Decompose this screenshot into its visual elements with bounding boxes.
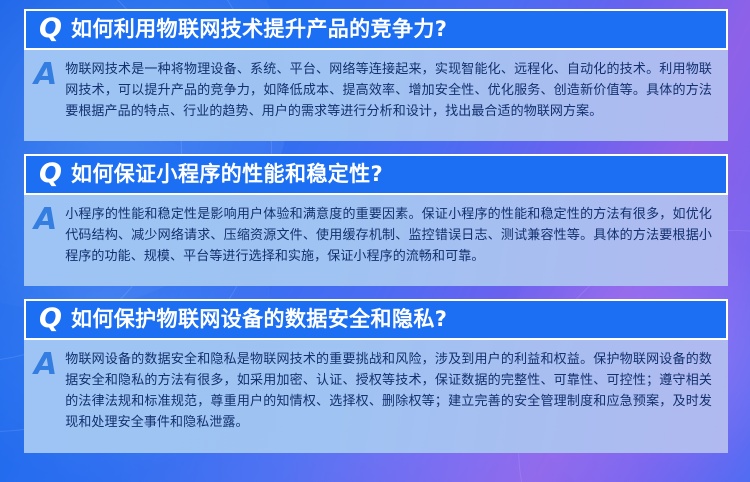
- question-mark-icon: Q: [39, 160, 62, 187]
- question-mark-icon: Q: [39, 305, 62, 332]
- faq-page: Q 如何利用物联网技术提升产品的竞争力? A 物联网技术是一种将物理设备、系统、…: [0, 0, 750, 482]
- answer-mark-icon: A: [34, 205, 57, 235]
- answer-text: 物联网设备的数据安全和隐私是物联网技术的重要挑战和风险，涉及到用户的利益和权益。…: [65, 349, 712, 433]
- question-bar[interactable]: Q 如何保证小程序的性能和稳定性?: [24, 154, 728, 195]
- answer-panel: A 小程序的性能和稳定性是影响用户体验和满意度的重要因素。保证小程序的性能和稳定…: [24, 195, 728, 286]
- question-bar[interactable]: Q 如何利用物联网技术提升产品的竞争力?: [24, 9, 728, 50]
- answer-panel: A 物联网设备的数据安全和隐私是物联网技术的重要挑战和风险，涉及到用户的利益和权…: [24, 340, 728, 453]
- faq-item[interactable]: Q 如何保证小程序的性能和稳定性? A 小程序的性能和稳定性是影响用户体验和满意…: [24, 154, 728, 286]
- faq-list: Q 如何利用物联网技术提升产品的竞争力? A 物联网技术是一种将物理设备、系统、…: [0, 0, 750, 482]
- answer-panel: A 物联网技术是一种将物理设备、系统、平台、网络等连接起来，实现智能化、远程化、…: [24, 50, 728, 141]
- question-bar[interactable]: Q 如何保护物联网设备的数据安全和隐私?: [24, 299, 728, 340]
- answer-text: 小程序的性能和稳定性是影响用户体验和满意度的重要因素。保证小程序的性能和稳定性的…: [65, 204, 712, 267]
- answer-text: 物联网技术是一种将物理设备、系统、平台、网络等连接起来，实现智能化、远程化、自动…: [65, 59, 712, 122]
- question-mark-icon: Q: [39, 15, 62, 42]
- question-text: 如何保证小程序的性能和稳定性?: [71, 163, 383, 186]
- question-text: 如何保护物联网设备的数据安全和隐私?: [71, 308, 447, 331]
- question-text: 如何利用物联网技术提升产品的竞争力?: [71, 18, 447, 41]
- answer-mark-icon: A: [34, 60, 57, 90]
- faq-item[interactable]: Q 如何利用物联网技术提升产品的竞争力? A 物联网技术是一种将物理设备、系统、…: [24, 9, 728, 141]
- faq-item[interactable]: Q 如何保护物联网设备的数据安全和隐私? A 物联网设备的数据安全和隐私是物联网…: [24, 299, 728, 453]
- answer-mark-icon: A: [34, 350, 57, 380]
